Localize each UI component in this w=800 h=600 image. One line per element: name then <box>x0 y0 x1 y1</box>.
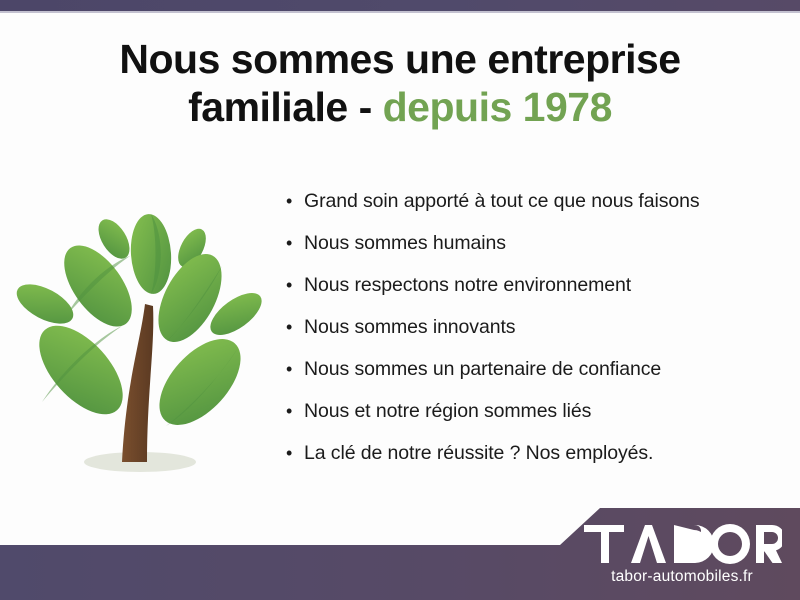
bullet-marker-icon: • <box>286 360 304 378</box>
top-accent-bar <box>0 0 800 11</box>
page-title: Nous sommes une entreprise familiale - d… <box>0 36 800 131</box>
list-item-label: Grand soin apporté à tout ce que nous fa… <box>304 190 700 213</box>
title-accent: depuis 1978 <box>383 84 612 130</box>
bullet-marker-icon: • <box>286 192 304 210</box>
list-item-label: Nous sommes innovants <box>304 316 515 339</box>
list-item-label: Nous et notre région sommes liés <box>304 400 591 423</box>
bullet-marker-icon: • <box>286 276 304 294</box>
brand-url-label: tabor-automobiles.fr <box>582 568 782 586</box>
list-item: • La clé de notre réussite ? Nos employé… <box>286 442 786 484</box>
tree-illustration <box>14 186 278 486</box>
list-item-label: Nous sommes un partenaire de confiance <box>304 358 661 381</box>
bullet-marker-icon: • <box>286 402 304 420</box>
list-item: • Nous sommes innovants <box>286 316 786 358</box>
title-dash: - <box>348 84 383 130</box>
bullet-list: • Grand soin apporté à tout ce que nous … <box>286 190 786 484</box>
list-item: • Grand soin apporté à tout ce que nous … <box>286 190 786 232</box>
bullet-marker-icon: • <box>286 234 304 252</box>
bullet-marker-icon: • <box>286 318 304 336</box>
title-line-1: Nous sommes une entreprise <box>0 36 800 84</box>
list-item: • Nous respectons notre environnement <box>286 274 786 316</box>
bullet-marker-icon: • <box>286 444 304 462</box>
tabor-logo-icon <box>582 523 782 565</box>
slide-canvas: Nous sommes une entreprise familiale - d… <box>0 0 800 600</box>
top-accent-hairline <box>0 11 800 13</box>
title-line-2-plain: familiale <box>188 84 348 130</box>
brand-lockup: tabor-automobiles.fr <box>582 523 782 586</box>
list-item: • Nous et notre région sommes liés <box>286 400 786 442</box>
list-item: • Nous sommes humains <box>286 232 786 274</box>
list-item-label: La clé de notre réussite ? Nos employés. <box>304 442 653 465</box>
list-item: • Nous sommes un partenaire de confiance <box>286 358 786 400</box>
list-item-label: Nous respectons notre environnement <box>304 274 631 297</box>
title-line-2: familiale - depuis 1978 <box>0 84 800 132</box>
list-item-label: Nous sommes humains <box>304 232 506 255</box>
